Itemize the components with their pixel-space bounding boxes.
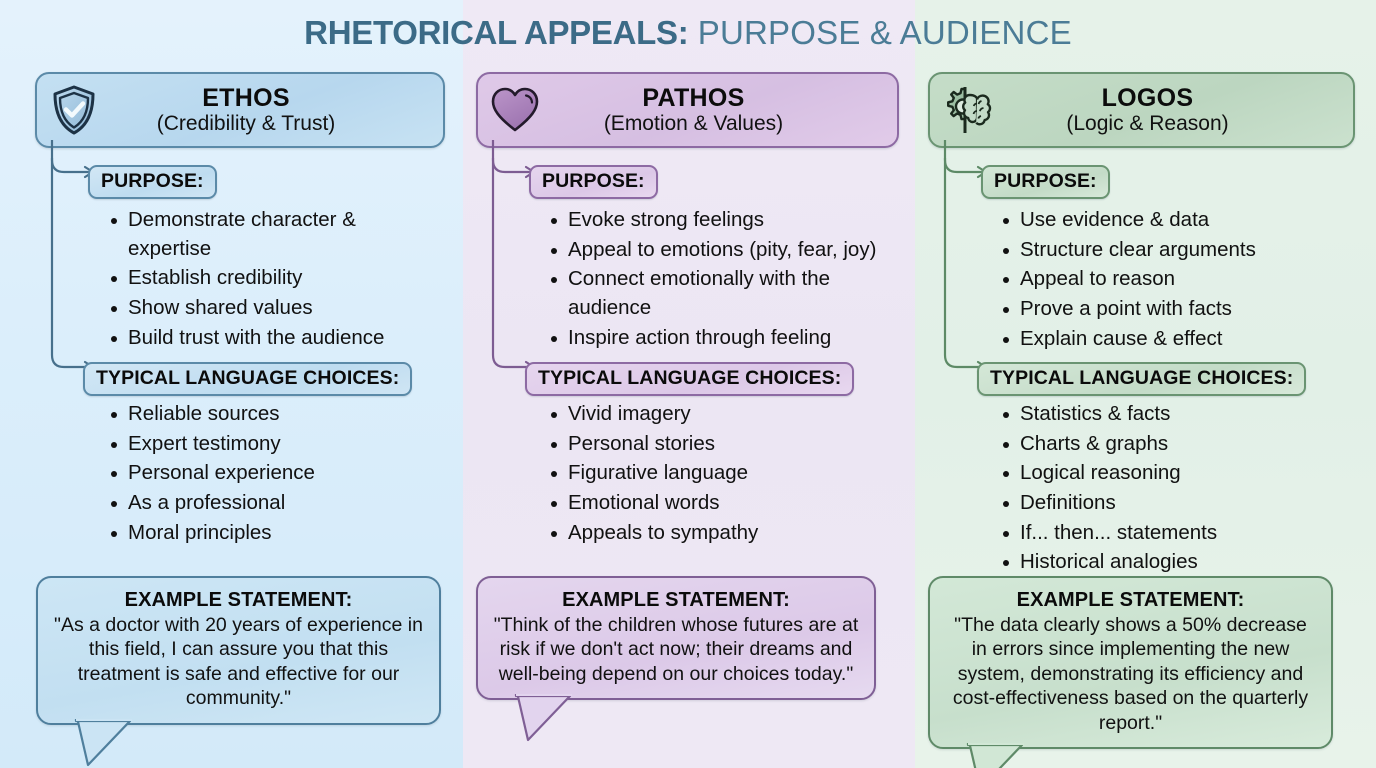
list-item: Figurative language: [549, 459, 894, 488]
pill-language-ethos: TYPICAL LANGUAGE CHOICES:: [83, 362, 412, 396]
header-title-pathos: PATHOS: [552, 85, 835, 112]
list-item: Connect emotionally with the audience: [549, 265, 894, 322]
header-subtitle-ethos: (Credibility & Trust): [111, 113, 381, 135]
list-item: Expert testimony: [109, 430, 439, 459]
columns-container: ETHOS (Credibility & Trust) PURPOSE: Dem…: [0, 0, 1376, 768]
list-item: As a professional: [109, 489, 439, 518]
purpose-list-logos: Use evidence & data Structure clear argu…: [1001, 206, 1351, 354]
header-subtitle-pathos: (Emotion & Values): [552, 113, 835, 135]
example-text-pathos: "Think of the children whose futures are…: [492, 613, 860, 686]
list-item: Build trust with the audience: [109, 324, 439, 353]
list-item: Vivid imagery: [549, 400, 894, 429]
bubble-tail-logos: [966, 743, 1046, 768]
list-item: Appeals to sympathy: [549, 519, 894, 548]
header-text-ethos: ETHOS (Credibility & Trust): [111, 85, 443, 135]
list-item: Statistics & facts: [1001, 400, 1351, 429]
pill-purpose-ethos: PURPOSE:: [88, 165, 217, 199]
header-subtitle-logos: (Logic & Reason): [1004, 113, 1291, 135]
header-card-ethos[interactable]: ETHOS (Credibility & Trust): [35, 72, 445, 148]
pill-language-logos: TYPICAL LANGUAGE CHOICES:: [977, 362, 1306, 396]
example-bubble-pathos: EXAMPLE STATEMENT: "Think of the childre…: [476, 576, 876, 700]
list-item: If... then... statements: [1001, 519, 1351, 548]
header-title-ethos: ETHOS: [111, 85, 381, 112]
list-item: Structure clear arguments: [1001, 236, 1351, 265]
list-item: Logical reasoning: [1001, 459, 1351, 488]
language-list-ethos: Reliable sources Expert testimony Person…: [109, 400, 439, 548]
bubble-tail-pathos: [514, 694, 594, 742]
pill-purpose-logos: PURPOSE:: [981, 165, 1110, 199]
example-text-ethos: "As a doctor with 20 years of experience…: [52, 613, 425, 711]
list-item: Prove a point with facts: [1001, 295, 1351, 324]
infographic-page: RHETORICAL APPEALS: PURPOSE & AUDIENCE: [0, 0, 1376, 768]
list-item: Establish credibility: [109, 264, 439, 293]
header-text-pathos: PATHOS (Emotion & Values): [552, 85, 897, 135]
example-bubble-ethos: EXAMPLE STATEMENT: "As a doctor with 20 …: [36, 576, 441, 725]
language-list-logos: Statistics & facts Charts & graphs Logic…: [1001, 400, 1351, 578]
header-card-logos[interactable]: LOGOS (Logic & Reason): [928, 72, 1355, 148]
column-pathos: PATHOS (Emotion & Values) PURPOSE: Evoke…: [463, 0, 915, 768]
list-item: Charts & graphs: [1001, 430, 1351, 459]
list-item: Appeal to emotions (pity, fear, joy): [549, 236, 894, 265]
language-list-pathos: Vivid imagery Personal stories Figurativ…: [549, 400, 894, 548]
column-ethos: ETHOS (Credibility & Trust) PURPOSE: Dem…: [0, 0, 463, 768]
example-label-ethos: EXAMPLE STATEMENT:: [52, 589, 425, 612]
list-item: Show shared values: [109, 294, 439, 323]
column-logos: LOGOS (Logic & Reason) PURPOSE: Use evid…: [915, 0, 1376, 768]
purpose-list-pathos: Evoke strong feelings Appeal to emotions…: [549, 206, 894, 353]
list-item: Moral principles: [109, 519, 439, 548]
list-item: Appeal to reason: [1001, 265, 1351, 294]
header-text-logos: LOGOS (Logic & Reason): [1004, 85, 1353, 135]
list-item: Evoke strong feelings: [549, 206, 894, 235]
list-item: Emotional words: [549, 489, 894, 518]
shield-check-icon: [37, 84, 111, 136]
gear-brain-icon: [930, 85, 1004, 135]
list-item: Personal experience: [109, 459, 439, 488]
example-label-pathos: EXAMPLE STATEMENT:: [492, 589, 860, 612]
bubble-tail-ethos: [74, 719, 154, 767]
heart-icon: [478, 86, 552, 134]
pill-language-pathos: TYPICAL LANGUAGE CHOICES:: [525, 362, 854, 396]
header-card-pathos[interactable]: PATHOS (Emotion & Values): [476, 72, 899, 148]
list-item: Reliable sources: [109, 400, 439, 429]
list-item: Definitions: [1001, 489, 1351, 518]
list-item: Historical analogies: [1001, 548, 1351, 577]
example-label-logos: EXAMPLE STATEMENT:: [944, 589, 1317, 612]
purpose-list-ethos: Demonstrate character & expertise Establ…: [109, 206, 439, 353]
list-item: Inspire action through feeling: [549, 324, 894, 353]
list-item: Use evidence & data: [1001, 206, 1351, 235]
list-item: Personal stories: [549, 430, 894, 459]
list-item: Explain cause & effect: [1001, 325, 1351, 354]
pill-purpose-pathos: PURPOSE:: [529, 165, 658, 199]
list-item: Demonstrate character & expertise: [109, 206, 439, 263]
example-text-logos: "The data clearly shows a 50% decrease i…: [944, 613, 1317, 735]
header-title-logos: LOGOS: [1004, 85, 1291, 112]
example-bubble-logos: EXAMPLE STATEMENT: "The data clearly sho…: [928, 576, 1333, 749]
